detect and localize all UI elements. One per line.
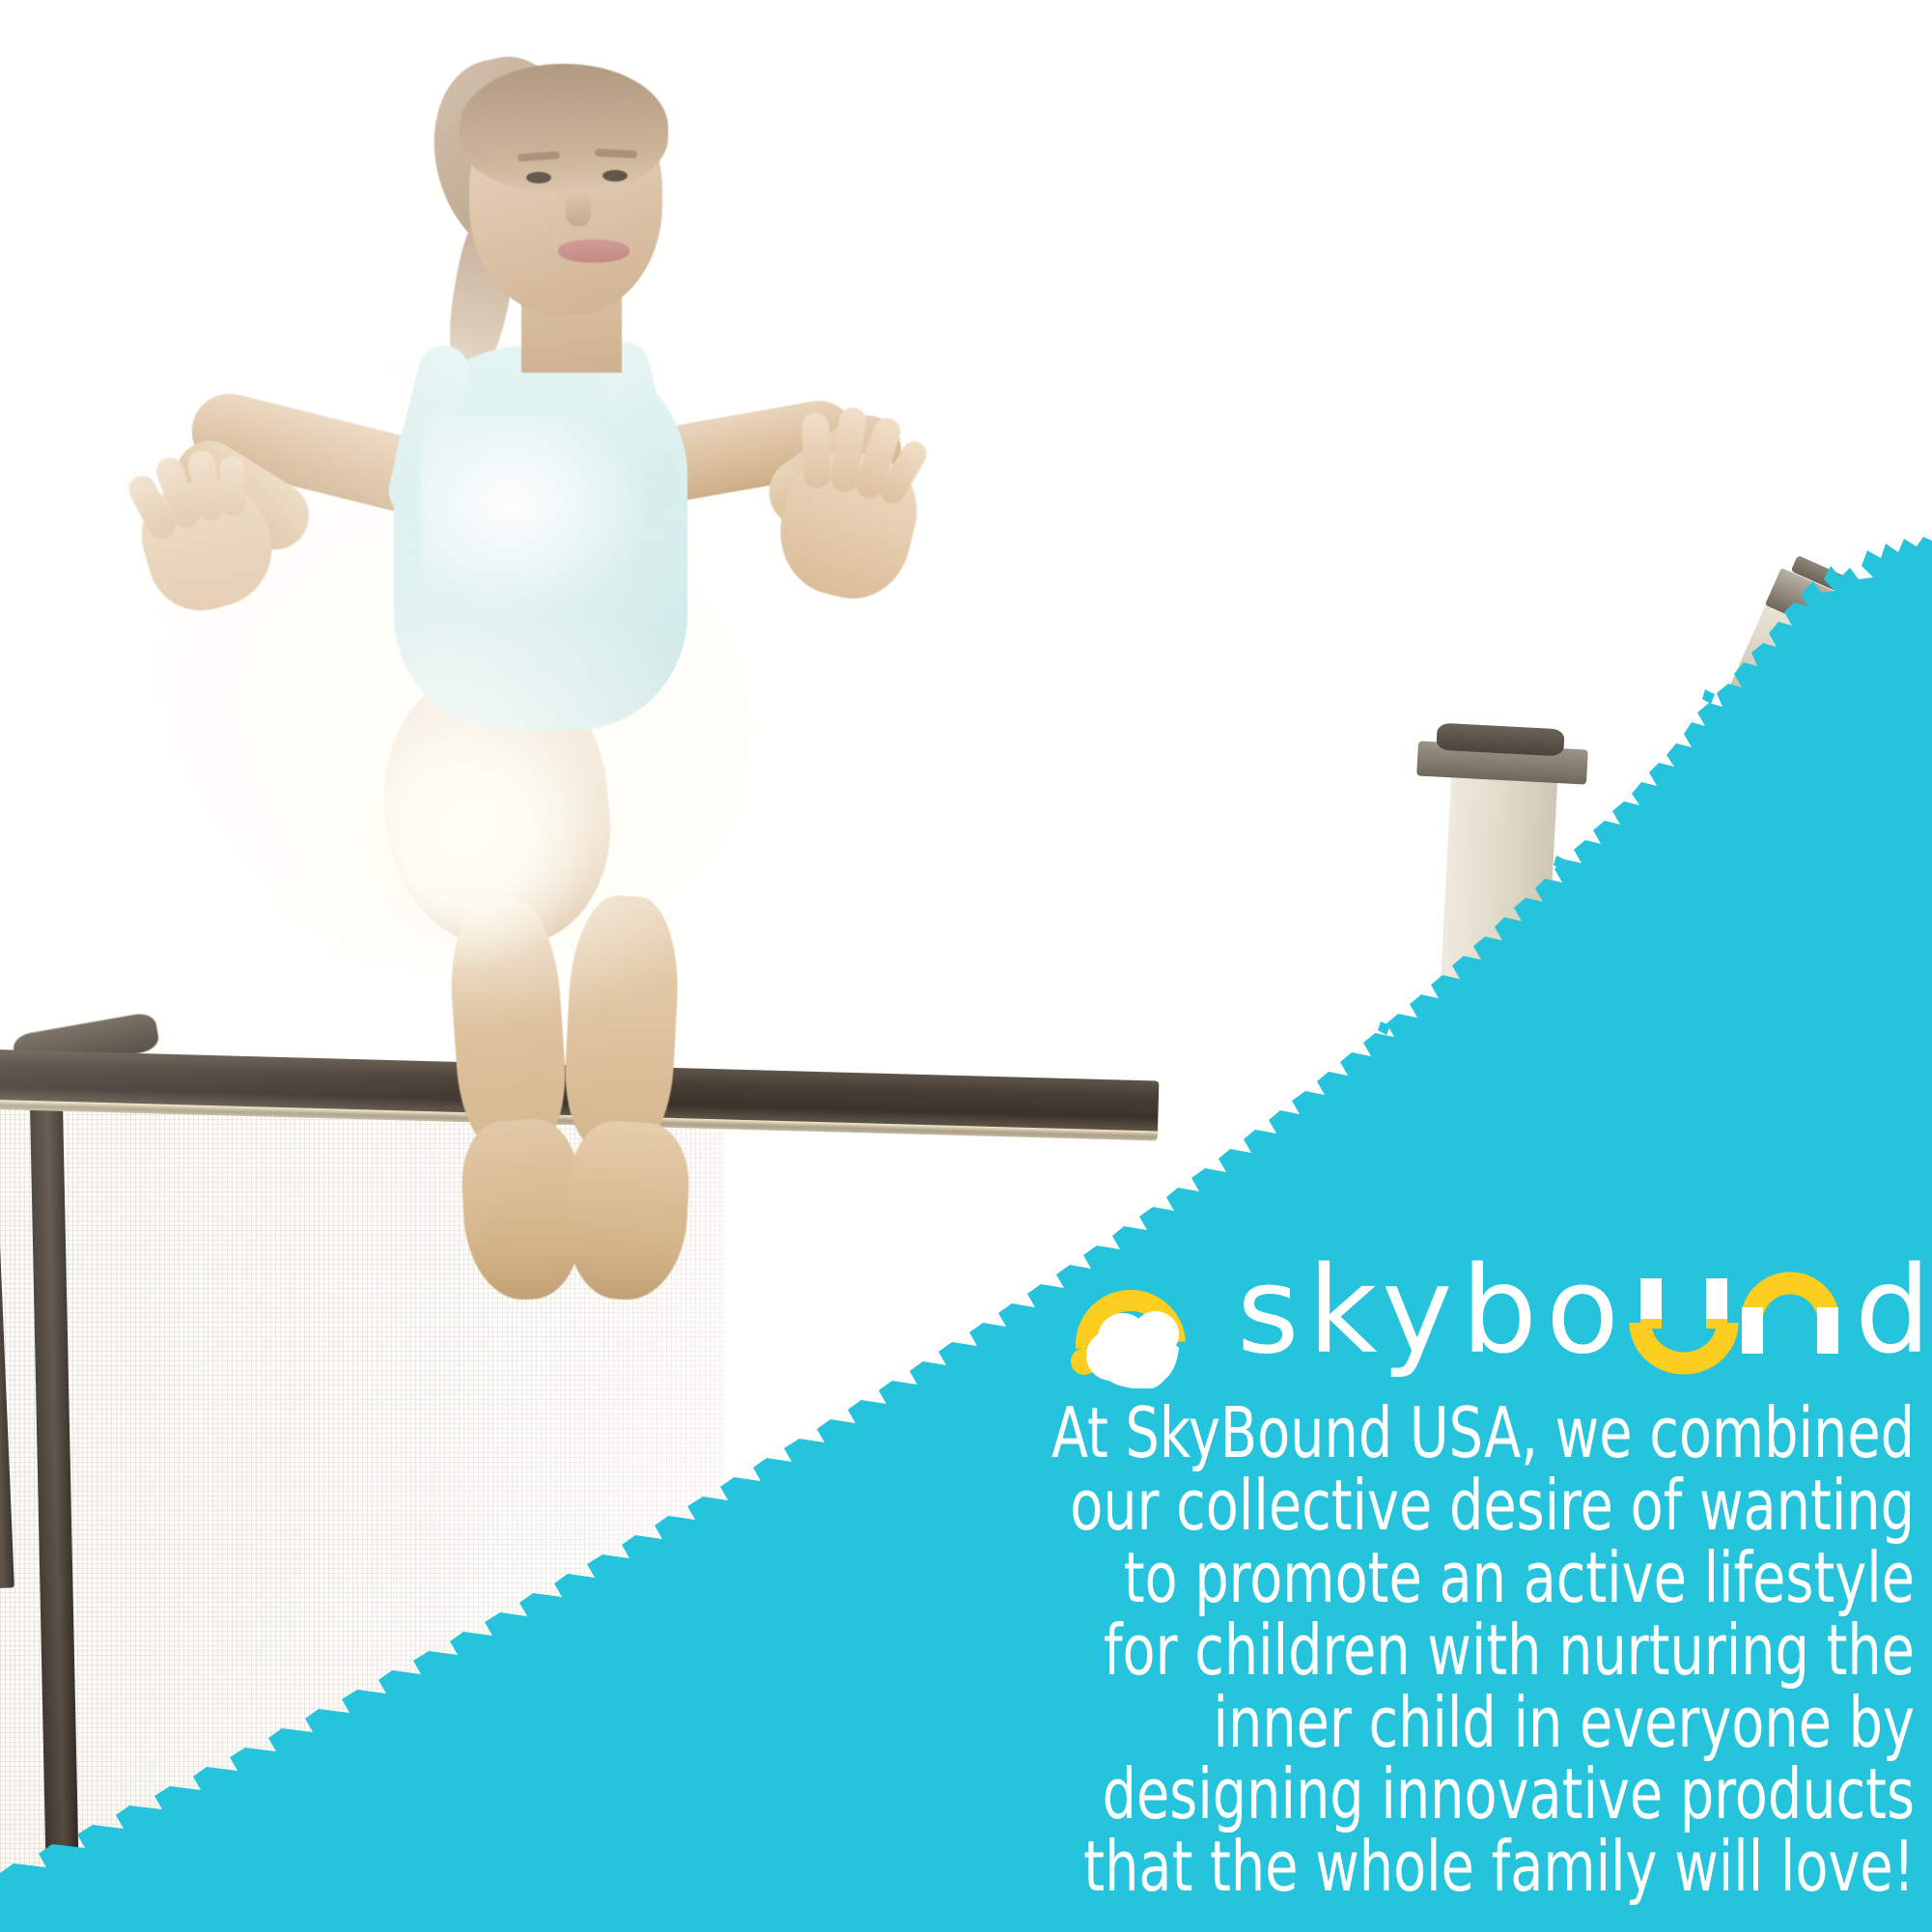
brand-lockup: skybo d bbox=[1067, 1244, 1917, 1388]
letter-d: d bbox=[1855, 1244, 1932, 1381]
eye-left bbox=[526, 172, 551, 183]
finger bbox=[219, 456, 246, 517]
logo-mark-svg bbox=[1067, 1244, 1212, 1388]
letter-n bbox=[1742, 1283, 1838, 1354]
nose bbox=[566, 193, 591, 226]
blurb-line: for children with nurturing the bbox=[978, 1614, 1915, 1687]
letter-u bbox=[1640, 1278, 1727, 1363]
hair-front bbox=[460, 64, 668, 191]
eye-right bbox=[602, 170, 628, 182]
blurb-paragraph: At SkyBound USA, we combined our collect… bbox=[978, 1397, 1915, 1903]
right-foot bbox=[563, 1119, 691, 1302]
chimney-body bbox=[1441, 760, 1558, 987]
finger bbox=[801, 412, 831, 489]
wordmark: skybo d bbox=[1237, 1244, 1932, 1388]
blurb-line: At SkyBound USA, we combined bbox=[978, 1397, 1915, 1470]
blurb-line: to promote an active lifestyle bbox=[978, 1542, 1915, 1614]
jumping-girl bbox=[0, 0, 1062, 1371]
blurb-line: inner child in everyone by bbox=[978, 1687, 1915, 1759]
wordmark-svg: skybo d bbox=[1237, 1244, 1932, 1388]
blurb-line: that the whole family will love! bbox=[978, 1831, 1915, 1903]
right-shin bbox=[561, 893, 683, 1152]
mouth bbox=[558, 239, 630, 263]
wordmark-text: skybo bbox=[1237, 1244, 1628, 1381]
poster: skybo d At SkyBound USA, bbox=[0, 0, 1932, 1932]
blurb-line: designing innovative products bbox=[978, 1758, 1915, 1831]
blurb-line: our collective desire of wanting bbox=[978, 1470, 1915, 1542]
leotard-highlight bbox=[421, 415, 658, 628]
sun-arc-cloud-icon bbox=[1067, 1244, 1212, 1388]
